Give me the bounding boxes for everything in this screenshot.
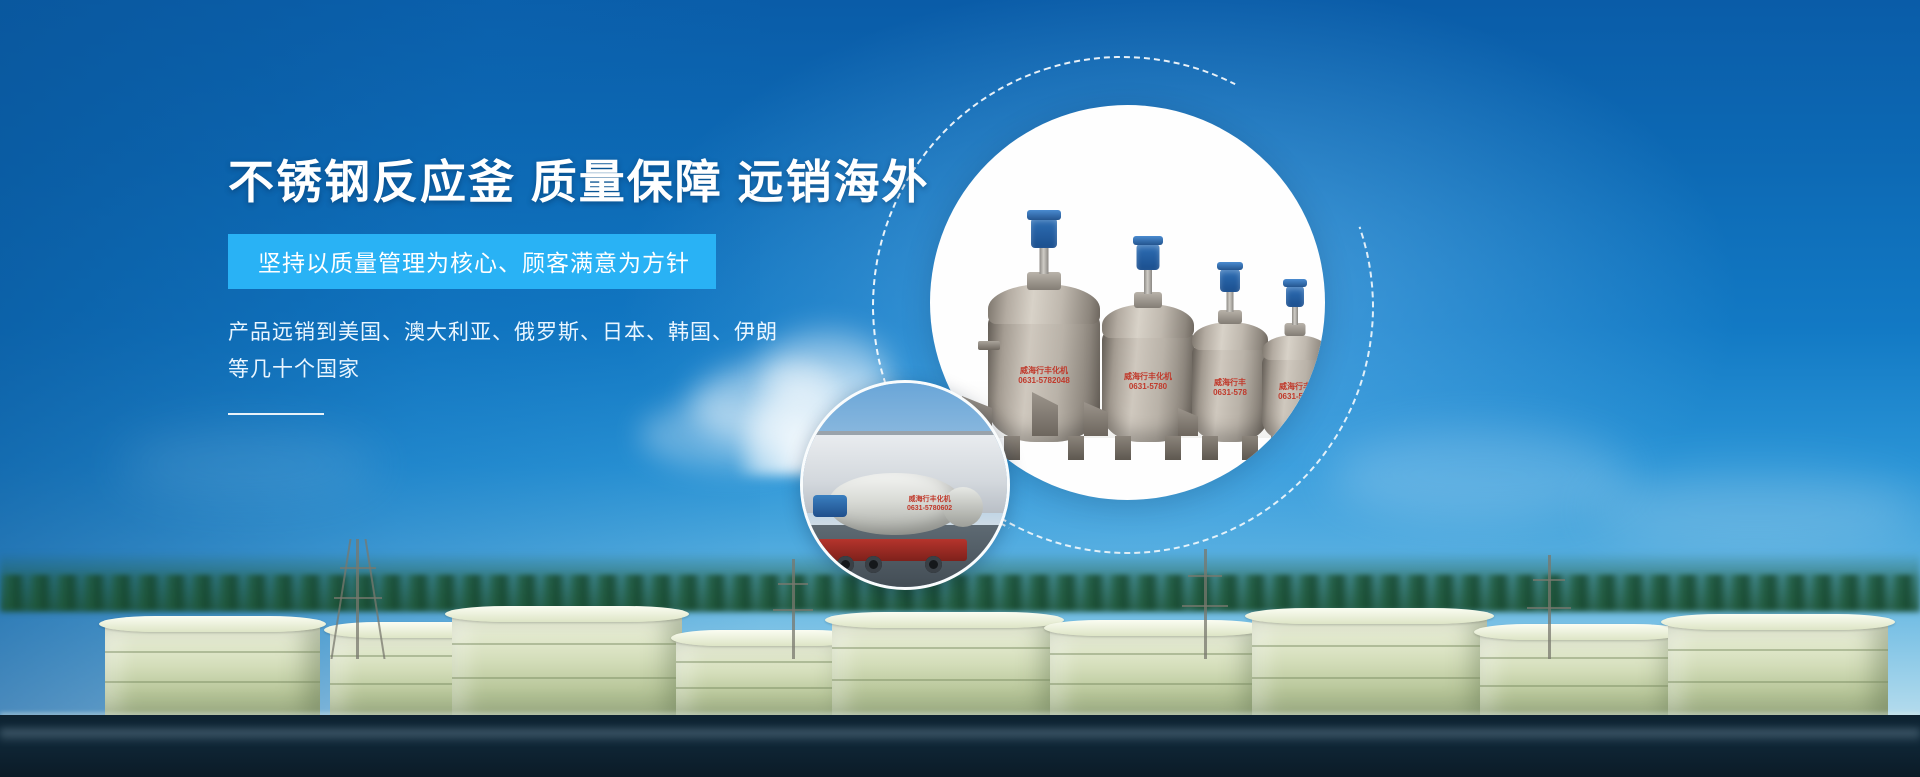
hero-banner: 威海行丰化机 0631-5782048 威海行丰化机 0631-5780 xyxy=(0,0,1920,777)
transmission-pylon xyxy=(1525,555,1573,659)
cloud-icon xyxy=(120,430,380,500)
factory-vessel-label: 威海行丰化机 0631-5780602 xyxy=(907,495,952,513)
page-title: 不锈钢反应釜 质量保障 远销海外 xyxy=(228,158,988,206)
reactor-motor-cap xyxy=(1027,210,1061,220)
reactor-gearbox xyxy=(1027,272,1061,290)
reactor-leg xyxy=(1115,436,1131,460)
reactor-gearbox xyxy=(1218,310,1242,324)
reactor-dome xyxy=(1262,335,1325,360)
reactor-leg xyxy=(1068,436,1084,460)
subtitle-highlight-bar: 坚持以质量管理为核心、顾客满意为方针 xyxy=(228,234,716,289)
subtitle-text: 坚持以质量管理为核心、顾客满意为方针 xyxy=(258,250,690,276)
storage-tank xyxy=(1252,617,1487,717)
truck-wheel xyxy=(837,556,854,573)
body-line-1: 产品远销到美国、澳大利亚、俄罗斯、日本、韩国、伊朗 xyxy=(228,315,988,352)
storage-tank xyxy=(105,625,320,717)
water-reflection xyxy=(0,729,1920,743)
reactor-motor xyxy=(1220,269,1240,292)
reactor-label: 威海行丰化机 0631-5780 xyxy=(1124,372,1172,392)
divider-rule xyxy=(228,413,324,415)
storage-tank xyxy=(676,639,856,717)
reactor-leg xyxy=(1202,436,1218,460)
body-line-2: 等几十个国家 xyxy=(228,352,988,389)
reactor-motor xyxy=(1137,244,1160,270)
storage-tank xyxy=(452,615,682,717)
reactor-dome xyxy=(1102,304,1194,338)
reactor-label: 威海行丰 0631-578 xyxy=(1213,378,1247,398)
transmission-pylon xyxy=(330,539,384,659)
reactor-leg xyxy=(1165,436,1181,460)
reactor-gearbox xyxy=(1134,292,1162,308)
reactor-motor-cap xyxy=(1133,236,1163,245)
reactor-label: 威海行丰 0631-578 xyxy=(1278,382,1312,402)
hero-body-text: 产品远销到美国、澳大利亚、俄罗斯、日本、韩国、伊朗 等几十个国家 xyxy=(228,315,988,389)
storage-tank xyxy=(832,621,1057,717)
reactor-dome xyxy=(1192,322,1268,350)
reactor-leg xyxy=(1271,436,1287,460)
hero-copy: 不锈钢反应釜 质量保障 远销海外 坚持以质量管理为核心、顾客满意为方针 产品远销… xyxy=(228,158,988,415)
reactor-leg xyxy=(1303,436,1319,460)
water-foreground xyxy=(0,715,1920,777)
truck-wheel xyxy=(865,556,882,573)
truck-wheel xyxy=(925,556,942,573)
reactor-label: 威海行丰化机 0631-5782048 xyxy=(1018,366,1070,386)
reactor-dome xyxy=(988,284,1100,324)
reactor-vessel: 威海行丰 0631-578 xyxy=(1192,270,1268,442)
reactor-motor-cap xyxy=(1283,279,1307,287)
reactor-shaft xyxy=(1040,244,1049,274)
storage-tank xyxy=(1668,623,1888,717)
factory-vessel-motor xyxy=(813,495,847,517)
reactor-motor-cap xyxy=(1217,262,1243,270)
reactor-motor xyxy=(1286,286,1304,307)
reactor-shaft xyxy=(1144,266,1152,294)
reactor-vessel: 威海行丰 0631-578 xyxy=(1262,284,1325,442)
storage-tank xyxy=(1480,633,1680,717)
cloud-icon xyxy=(1330,430,1630,520)
reactor-leg xyxy=(1242,436,1258,460)
reactor-motor xyxy=(1031,218,1057,248)
transmission-pylon xyxy=(1180,549,1230,659)
cloud-icon xyxy=(1590,470,1920,550)
